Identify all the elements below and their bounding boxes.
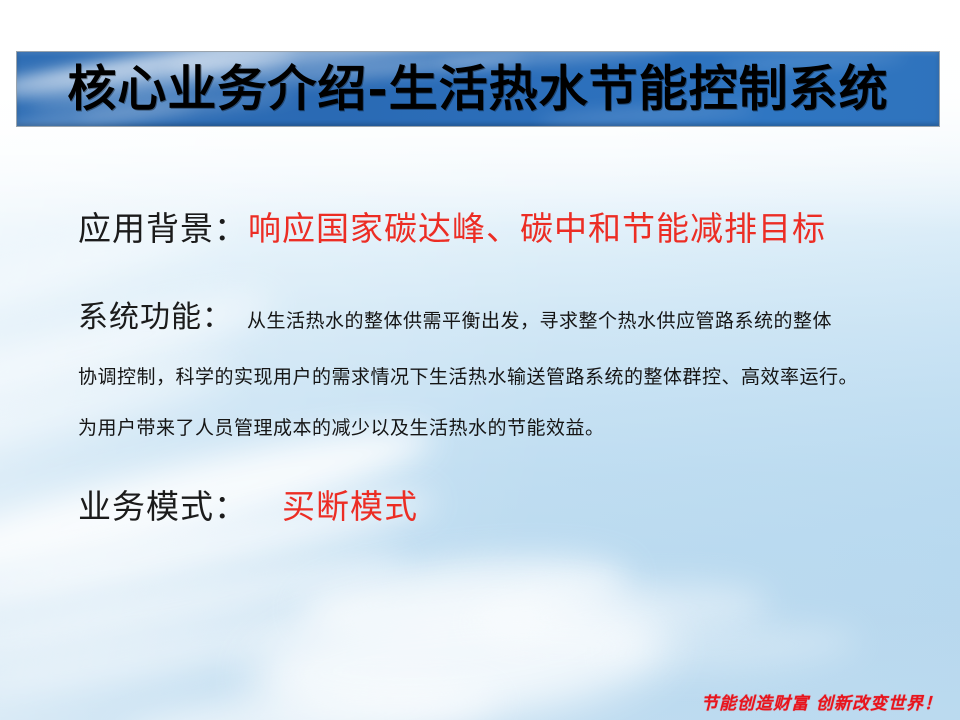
- section-business-mode: 业务模式：买断模式: [78, 490, 418, 523]
- business-mode-label: 业务模式：: [78, 487, 248, 526]
- system-function-line-3: 为用户带来了人员管理成本的减少以及生活热水的节能效益。: [78, 417, 605, 439]
- application-background-value: 响应国家碳达峰、碳中和节能减排目标: [248, 209, 826, 248]
- slide-content: 应用背景：响应国家碳达峰、碳中和节能减排目标 系统功能：从生活热水的整体供需平衡…: [0, 0, 960, 720]
- system-function-line-3-row: 为用户带来了人员管理成本的减少以及生活热水的节能效益。: [78, 419, 605, 438]
- section-system-function: 系统功能：从生活热水的整体供需平衡出发，寻求整个热水供应管路系统的整体: [78, 303, 832, 333]
- application-background-label: 应用背景：: [78, 209, 248, 248]
- section-application-background: 应用背景：响应国家碳达峰、碳中和节能减排目标: [78, 212, 826, 245]
- business-mode-value: 买断模式: [282, 487, 418, 526]
- system-function-label: 系统功能：: [78, 303, 233, 333]
- footer-slogan: 节能创造财富 创新改变世界！: [701, 696, 942, 713]
- system-function-line-2: 协调控制，科学的实现用户的需求情况下生活热水输送管路系统的整体群控、高效率运行。: [78, 366, 858, 388]
- system-function-line-2-row: 协调控制，科学的实现用户的需求情况下生活热水输送管路系统的整体群控、高效率运行。: [78, 368, 858, 387]
- system-function-line-1: 从生活热水的整体供需平衡出发，寻求整个热水供应管路系统的整体: [247, 312, 832, 331]
- slide-root: 核心业务介绍-生活热水节能控制系统 应用背景：响应国家碳达峰、碳中和节能减排目标…: [0, 0, 960, 720]
